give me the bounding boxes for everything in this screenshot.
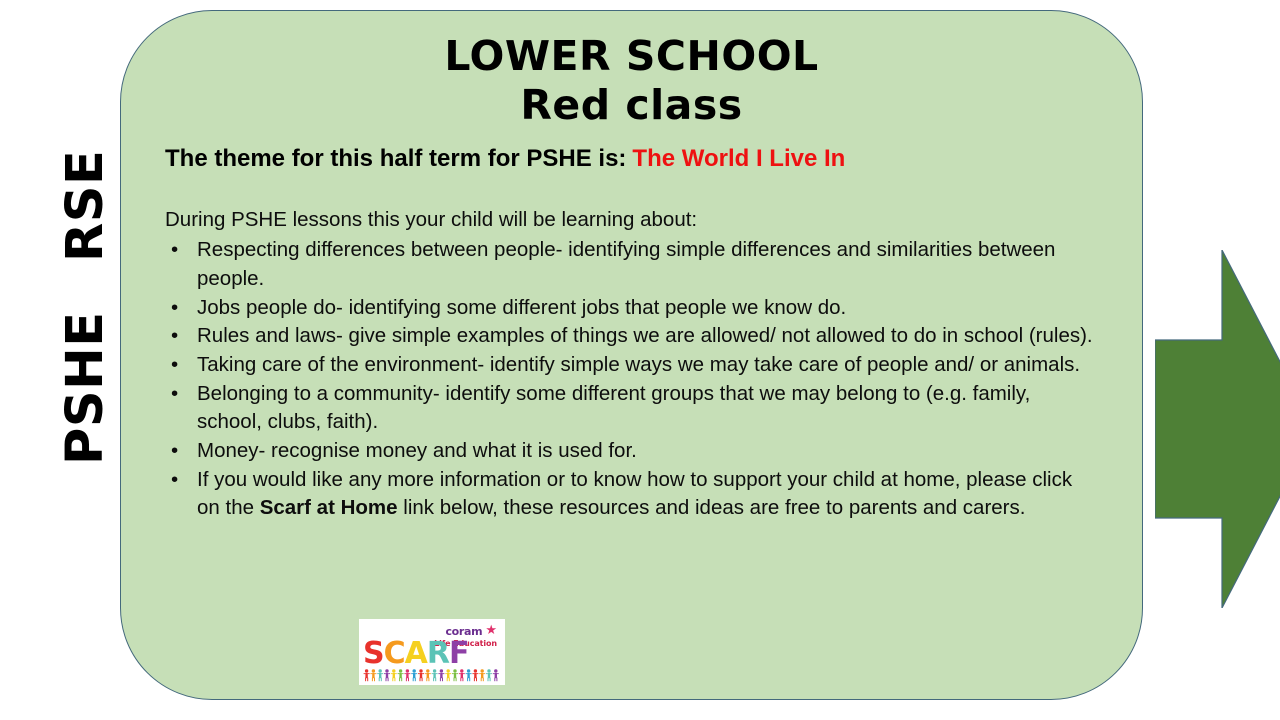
bullet-icon: • [171,437,178,466]
list-item-text-post: link below, these resources and ideas ar… [398,496,1026,519]
list-item: • Respecting differences between people-… [165,236,1095,293]
theme-value: The World I Live In [632,145,845,172]
vertical-label-pshe: PSHE [60,311,111,465]
vertical-label-rse: RSE [60,150,111,262]
list-item: • Money- recognise money and what it is … [165,437,1095,466]
bullet-icon: • [171,351,178,380]
learning-topics-list: • Respecting differences between people-… [165,236,1095,523]
scarf-letter-r: R [427,639,449,669]
list-item-text: Rules and laws- give simple examples of … [197,324,1093,347]
scarf-logo[interactable]: coram★ Life Education SCARF [359,619,505,685]
list-item: • Jobs people do- identifying some diffe… [165,294,1095,323]
scarf-letter-f: F [449,639,469,669]
list-item: • Taking care of the environment- identi… [165,351,1095,380]
scarf-at-home-link[interactable]: Scarf at Home [260,496,398,519]
list-item-text: Taking care of the environment- identify… [197,353,1080,376]
page-title: LOWER SCHOOL Red class [121,35,1142,127]
scarf-letter-a: A [405,639,427,669]
bullet-icon: • [171,236,178,265]
theme-line: The theme for this half term for PSHE is… [165,145,1142,174]
list-item-text: Respecting differences between people- i… [197,238,1055,290]
list-item: • Belonging to a community- identify som… [165,380,1095,437]
scarf-wordmark: SCARF [363,639,468,669]
scarf-letter-s: S [363,639,384,669]
intro-text: During PSHE lessons this your child will… [165,206,1142,234]
scarf-letter-c: C [384,639,405,669]
title-lower-school: LOWER SCHOOL [121,35,1142,78]
list-item: • Rules and laws- give simple examples o… [165,322,1095,351]
right-arrow-icon [1155,250,1280,608]
side-label-column: RSE PSHE [0,0,120,720]
bullet-icon: • [171,380,178,409]
bullet-icon: • [171,466,178,495]
list-item-text: Jobs people do- identifying some differe… [197,296,846,319]
people-figures-icon [363,668,501,682]
bullet-icon: • [171,294,178,323]
list-item-text: Money- recognise money and what it is us… [197,439,637,462]
theme-label: The theme for this half term for PSHE is… [165,145,626,172]
title-red-class: Red class [121,84,1142,127]
bullet-icon: • [171,322,178,351]
list-item-text: Belonging to a community- identify some … [197,382,1030,434]
star-icon: ★ [485,623,497,636]
content-panel: LOWER SCHOOL Red class The theme for thi… [120,10,1143,700]
list-item-scarf-link: •If you would like any more information … [165,466,1095,523]
